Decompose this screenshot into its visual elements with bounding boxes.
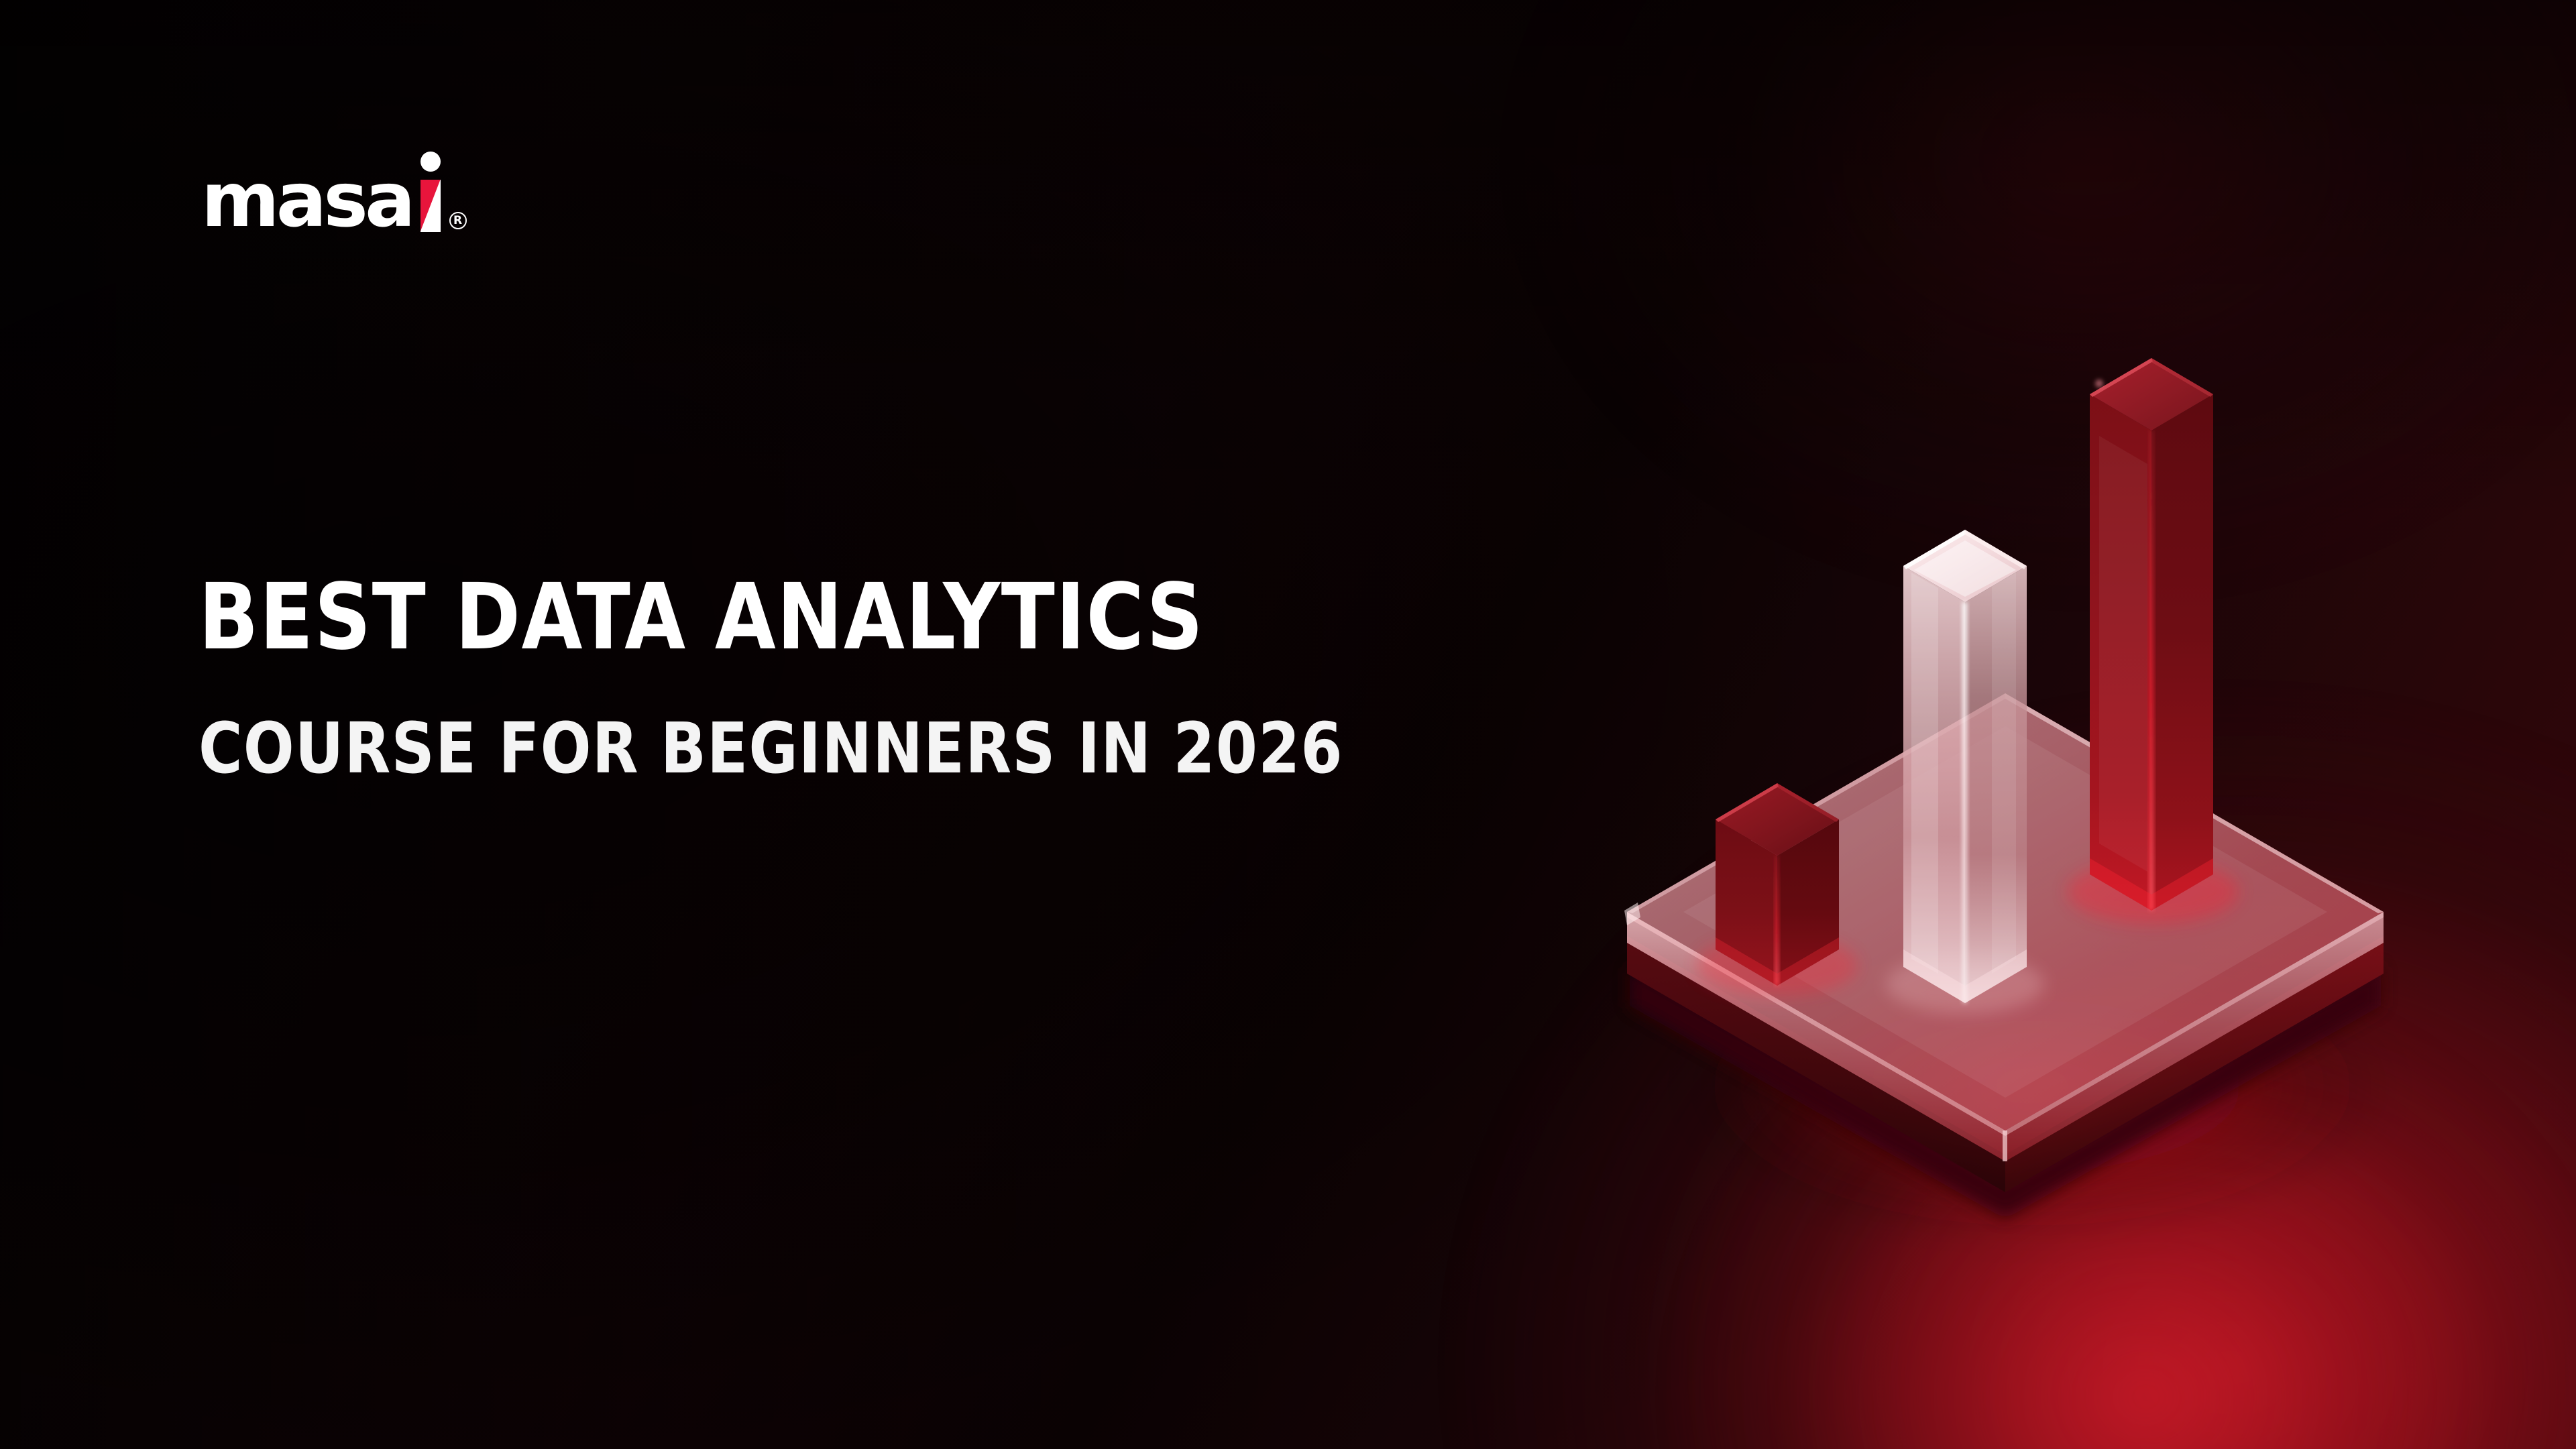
logo-i-letter-icon: [418, 153, 443, 232]
promo-banner: masa R BEST DATA ANALYTICS COURSE FOR BE…: [0, 0, 2576, 1449]
headline-block: BEST DATA ANALYTICS COURSE FOR BEGINNERS…: [199, 571, 1397, 784]
masai-logo[interactable]: masa R: [201, 153, 467, 232]
bar-3-tall-red: [2067, 358, 2239, 924]
logo-i-dot-icon: [421, 152, 441, 172]
headline-line-1: BEST DATA ANALYTICS: [199, 571, 1349, 664]
headline-line-2: COURSE FOR BEGINNERS IN 2026: [199, 713, 1343, 784]
bar-2-frosted-white: [1886, 530, 2044, 1014]
registered-trademark-icon: R: [449, 212, 467, 229]
bar-chart-3d-illustration: [1563, 295, 2448, 1207]
specular-highlight: [2095, 380, 2103, 388]
logo-wordmark: masa: [201, 169, 412, 232]
